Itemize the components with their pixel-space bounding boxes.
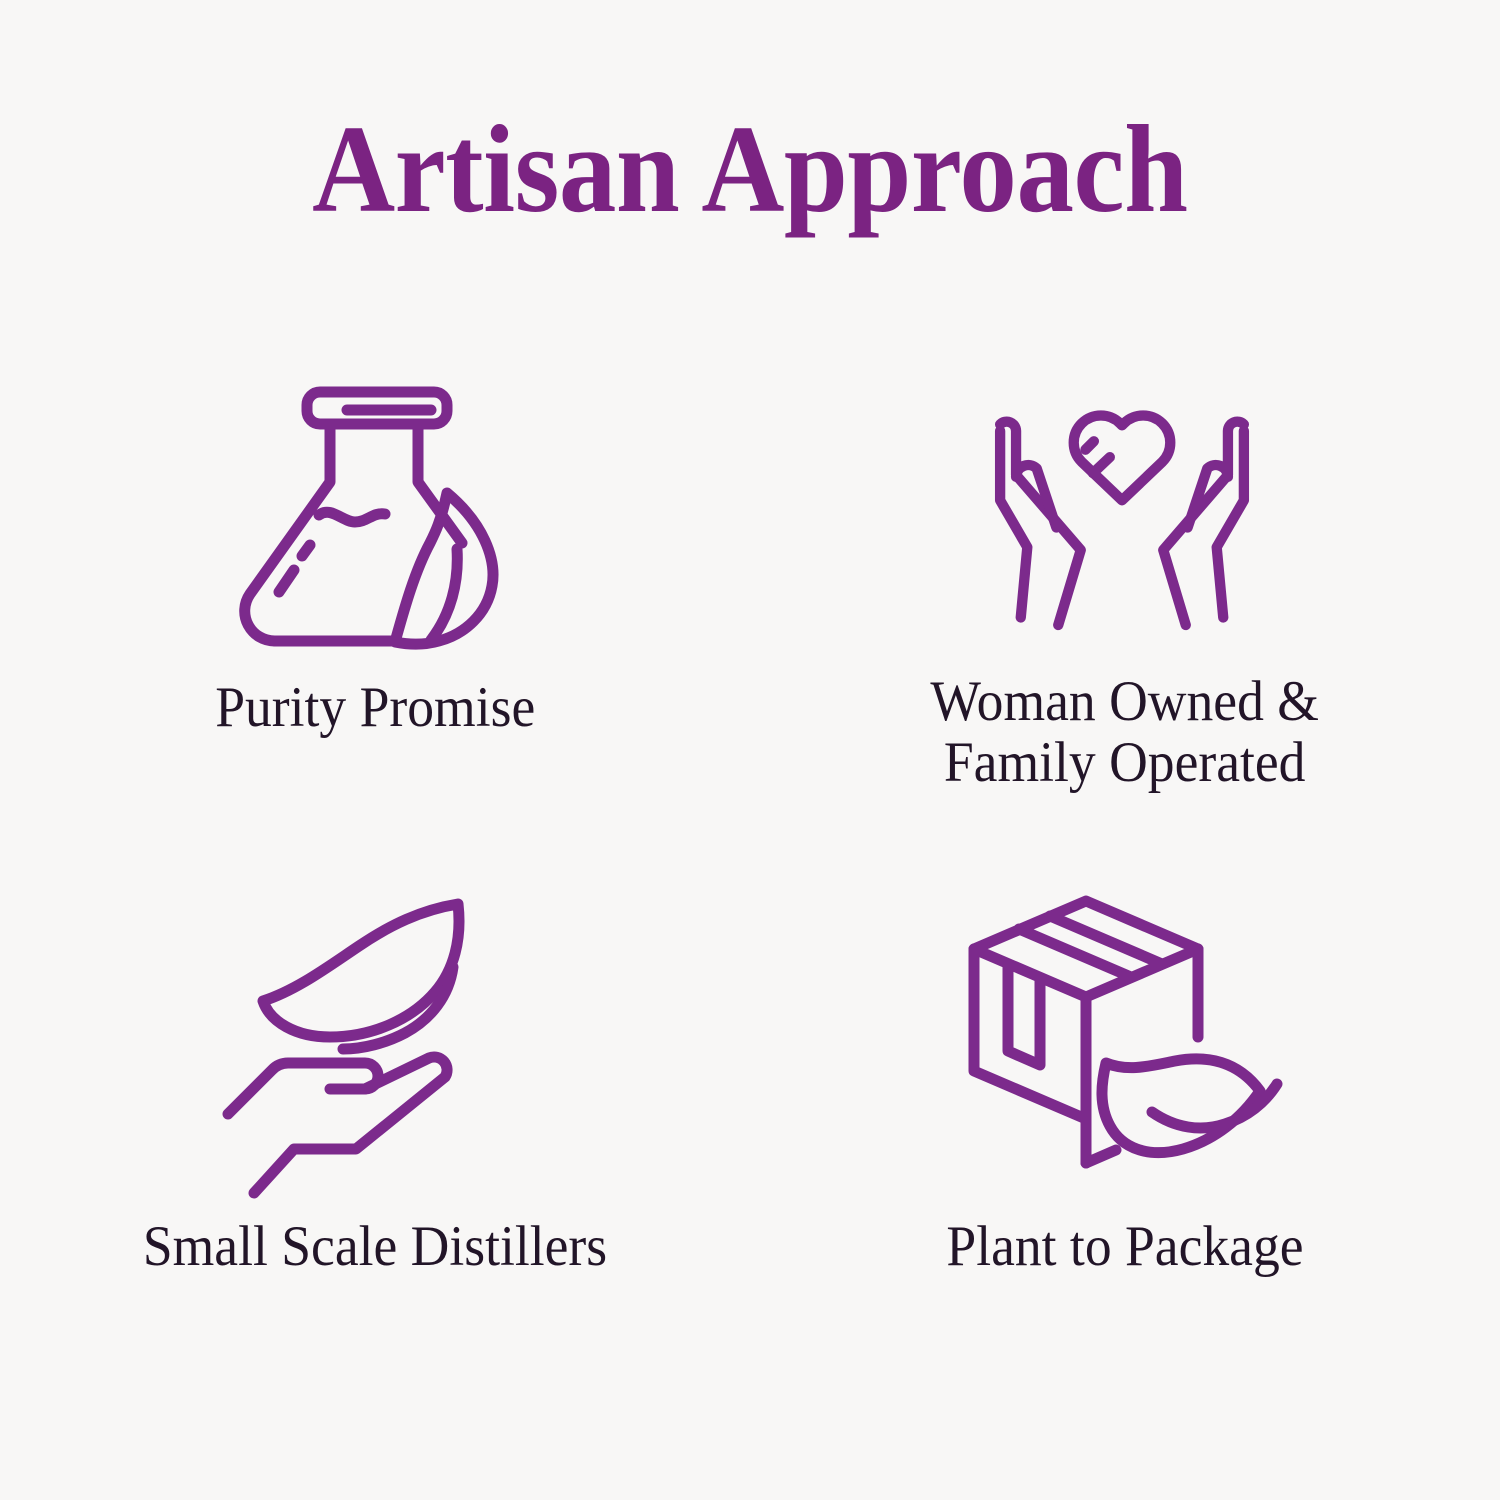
box-leaf-icon — [960, 888, 1300, 1188]
feature-label-small-scale-distillers: Small Scale Distillers — [143, 1216, 607, 1277]
feature-item-woman-owned: Woman Owned & Family Operated — [750, 355, 1500, 870]
feature-label-plant-to-package: Plant to Package — [946, 1216, 1303, 1277]
feature-item-plant-to-package: Plant to Package — [750, 870, 1500, 1385]
page-title: Artisan Approach — [312, 108, 1188, 233]
feature-item-purity-promise: Purity Promise — [0, 355, 750, 870]
feature-label-woman-owned: Woman Owned & Family Operated — [931, 671, 1320, 793]
hands-heart-icon — [972, 371, 1272, 639]
feature-item-small-scale-distillers: Small Scale Distillers — [0, 870, 750, 1385]
hand-leaf-icon — [220, 884, 520, 1184]
feature-label-purity-promise: Purity Promise — [215, 677, 535, 738]
page-title-container: Artisan Approach — [0, 108, 1500, 233]
flask-leaf-icon — [227, 355, 527, 655]
artisan-approach-panel: Artisan Approach — [0, 0, 1500, 1500]
feature-grid: Purity Promise — [0, 355, 1500, 1385]
